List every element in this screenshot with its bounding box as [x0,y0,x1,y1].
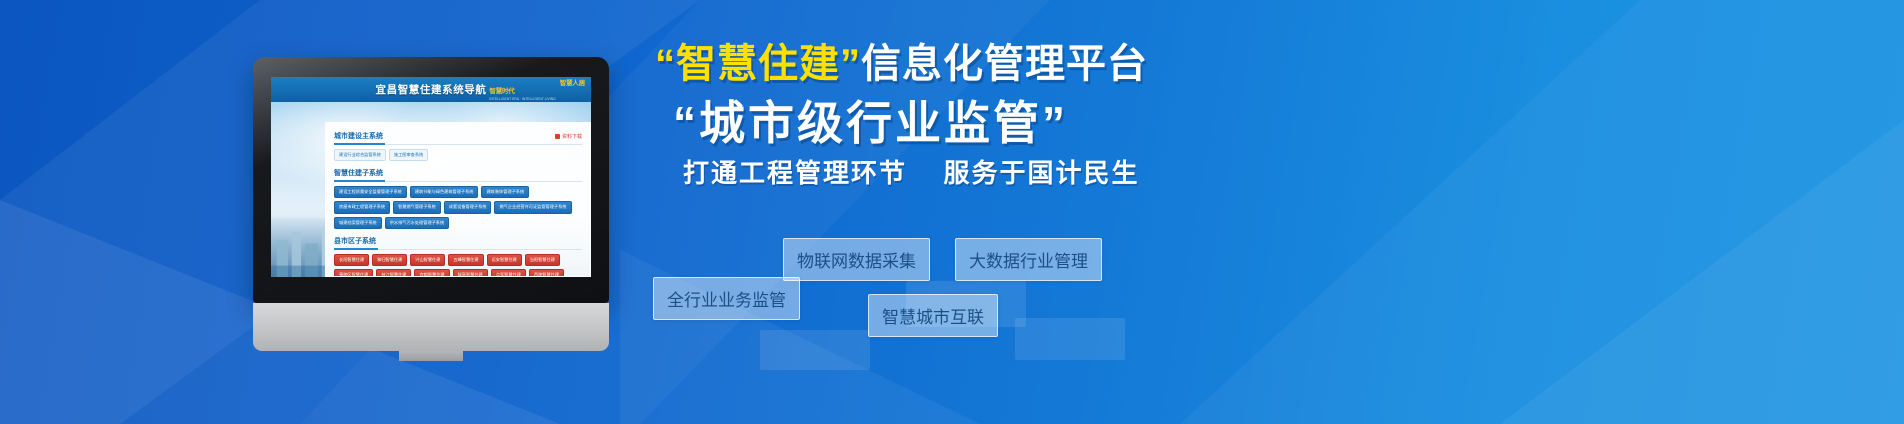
headline-highlight: 智慧住建 [676,42,840,86]
brand-mark-1: 智慧时代 [489,88,514,95]
portal-chip[interactable]: 长阳智慧住建 [334,254,369,266]
tag-all-business-supervision[interactable]: 全行业业务监管 [653,277,800,320]
portal-chip[interactable]: 猇亭智慧住建 [453,269,488,277]
portal-chip[interactable]: 枝江智慧住建 [376,269,411,277]
imac-mockup: 宜昌智慧住建系统导航 智慧时代 INTELLIGENT ERA · INTELL… [253,57,609,303]
brand-mark-2: 智慧人居 [560,80,585,87]
portal-chip[interactable]: 当阳智慧住建 [525,254,560,266]
section-chip-row: 建设工程质量安全监督管理子系统 建筑节能与绿色建筑管理子系统 建筑装饰管理子系统… [334,186,582,229]
portal-page: 宜昌智慧住建系统导航 智慧时代 INTELLIGENT ERA · INTELL… [271,77,591,277]
decorative-rect [760,330,870,370]
section-header: 智慧住建子系统 [334,166,582,182]
portal-chip[interactable]: 五峰智慧住建 [448,254,483,266]
portal-chip[interactable]: 施工图审查系统 [389,149,428,161]
portal-chip[interactable]: 建设工程质量安全监督管理子系统 [334,186,407,198]
portal-chip[interactable]: 远安智慧住建 [487,254,522,266]
portal-chip[interactable]: 成套设备管理子系统 [444,201,492,213]
monitor-chin [253,303,609,351]
flag-icon [555,134,560,139]
tagline-part-1: 打通工程管理环节 [683,158,907,188]
tag-bigdata-management[interactable]: 大数据行业管理 [955,238,1102,281]
portal-chip[interactable]: 城建档案管理子系统 [334,217,382,229]
portal-chip[interactable]: 燃气企业经营许可证监管管理子系统 [494,201,571,213]
section-title: 智慧住建子系统 [334,166,385,182]
portal-chip[interactable]: 夷陵区智慧住建 [334,269,373,277]
monitor-screen: 宜昌智慧住建系统导航 智慧时代 INTELLIGENT ERA · INTELL… [271,77,591,277]
portal-chip[interactable]: 宜都智慧住建 [414,269,449,277]
portal-header: 宜昌智慧住建系统导航 智慧时代 INTELLIGENT ERA · INTELL… [271,77,591,102]
section-title: 县市区子系统 [334,234,378,250]
monitor-bezel: 宜昌智慧住建系统导航 智慧时代 INTELLIGENT ERA · INTELL… [253,57,609,303]
portal-chip[interactable]: 供水排气污水处理管理子系统 [385,217,449,229]
promo-banner: 宜昌智慧住建系统导航 智慧时代 INTELLIGENT ERA · INTELL… [0,0,1904,424]
headline-primary: “智慧住建”信息化管理平台 [655,44,1255,84]
headline-tagline: 打通工程管理环节 服务于国计民生 [683,160,1255,186]
portal-chip[interactable]: 房屋市政工程管理子系统 [334,201,390,213]
portal-chip[interactable]: 秭归智慧住建 [372,254,407,266]
section-chip-row: 建设行业综合监管系统 施工图审查系统 [334,149,582,161]
portal-chip[interactable]: 兴山智慧住建 [410,254,445,266]
portal-brand: 智慧时代 INTELLIGENT ERA · INTELLIGENT LIVIN… [489,80,585,102]
portal-body: 城市建设主系统 资料下载 建设行业综合监管系统 施工图审查系统 [271,102,591,277]
portal-chip[interactable]: 建筑装饰管理子系统 [481,186,529,198]
tag-iot-data-collection[interactable]: 物联网数据采集 [783,238,930,281]
section-title: 城市建设主系统 [334,129,385,145]
section-chip-row: 长阳智慧住建 秭归智慧住建 兴山智慧住建 五峰智慧住建 远安智慧住建 当阳智慧住… [334,254,582,277]
headline-secondary: “城市级行业监管” [673,100,1255,146]
quote-close: ” [840,42,861,86]
portal-chip[interactable]: 智慧燃气管理子系统 [393,201,441,213]
monitor-stand [399,351,463,361]
download-link-label: 资料下载 [562,133,582,140]
headline-group: “智慧住建”信息化管理平台 “城市级行业监管” 打通工程管理环节 服务于国计民生 [655,44,1255,186]
section-header: 城市建设主系统 资料下载 [334,129,582,145]
portal-chip[interactable]: 西陵智慧住建 [529,269,564,277]
quote-open: “ [655,42,676,86]
portal-title: 宜昌智慧住建系统导航 [376,82,487,97]
portal-chip[interactable]: 建筑节能与绿色建筑管理子系统 [410,186,479,198]
tagline-part-2: 服务于国计民生 [943,158,1139,188]
decorative-rect [1015,318,1125,360]
headline-primary-rest: 信息化管理平台 [861,42,1148,86]
portal-chip[interactable]: 建设行业综合监管系统 [334,149,386,161]
portal-content-card: 城市建设主系统 资料下载 建设行业综合监管系统 施工图审查系统 [325,122,591,277]
download-link[interactable]: 资料下载 [555,133,582,140]
portal-chip[interactable]: 点军智慧住建 [491,269,526,277]
tag-smart-city-connect[interactable]: 智慧城市互联 [868,294,998,337]
section-header: 县市区子系统 [334,234,582,250]
